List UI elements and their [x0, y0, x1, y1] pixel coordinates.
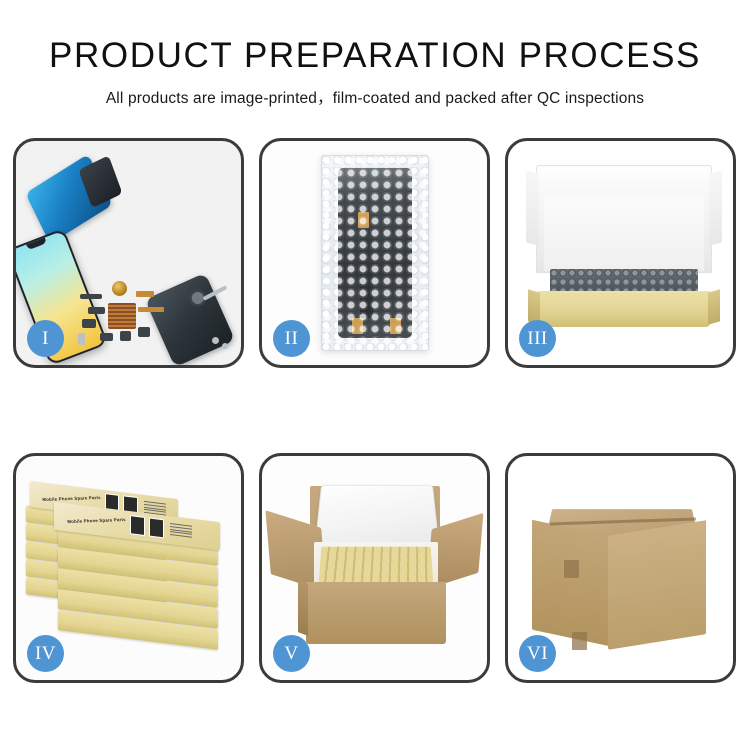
sim-tray-icon — [78, 333, 85, 345]
screw-2-icon — [222, 343, 228, 349]
process-step-grid: I II — [13, 138, 737, 683]
page-subtitle: All products are image-printed，film-coat… — [0, 86, 750, 108]
step-badge-4: IV — [27, 635, 64, 672]
foam-box-lid-icon — [315, 485, 440, 547]
process-step-panel-4: Mobile Phone Spare Parts Mobile Phon — [13, 453, 244, 683]
kraft-box-stack: Mobile Phone Spare Parts Mobile Phon — [24, 474, 236, 664]
header: PRODUCT PREPARATION PROCESS All products… — [0, 0, 750, 108]
speaker-box-icon — [138, 327, 150, 337]
box-label-text: Mobile Phone Spare Parts — [42, 495, 101, 502]
screw-icon — [212, 337, 219, 344]
lcd-screen-icon — [338, 168, 412, 338]
bubble-wrap-package-icon — [321, 155, 429, 351]
box-label-text-2: Mobile Phone Spare Parts — [67, 517, 126, 524]
product-preparation-infographic: PRODUCT PREPARATION PROCESS All products… — [0, 0, 750, 750]
process-step-panel-3: III — [505, 138, 736, 368]
carton-tape-upper-icon — [564, 560, 579, 578]
box-label-spec-lines-2-icon — [170, 523, 192, 538]
page-title: PRODUCT PREPARATION PROCESS — [0, 38, 750, 75]
speaker-coil-icon — [112, 281, 127, 296]
box-label-product-image-3-icon — [130, 515, 145, 536]
small-part-2-icon — [82, 319, 96, 328]
tape-tab-2-icon — [352, 318, 363, 334]
packed-kraft-boxes-icon — [319, 547, 434, 584]
copper-grid-icon — [108, 303, 136, 329]
kraft-box-base-icon — [538, 291, 710, 327]
step-badge-6: VI — [519, 635, 556, 672]
tape-tab-3-icon — [390, 318, 401, 334]
tape-tab-icon — [358, 212, 369, 228]
carton-front-wall-icon — [306, 582, 446, 644]
connector-bar-icon — [80, 294, 102, 299]
small-part-3-icon — [100, 333, 113, 341]
small-part-icon — [88, 307, 105, 314]
step-badge-2: II — [273, 320, 310, 357]
process-step-panel-2: II — [259, 138, 490, 368]
carton-right-face-icon — [608, 520, 706, 650]
carton-left-face-icon — [532, 520, 610, 647]
screen-flex-cable-icon — [360, 226, 373, 318]
camera-module-icon — [120, 331, 131, 341]
process-step-panel-5: V — [259, 453, 490, 683]
process-step-panel-1: I — [13, 138, 244, 368]
foam-sheet-icon — [544, 197, 704, 271]
flex-cable-icon — [136, 291, 154, 297]
step-badge-1: I — [27, 320, 64, 357]
step-badge-5: V — [273, 635, 310, 672]
step-badge-3: III — [519, 320, 556, 357]
tweezer-icon — [203, 285, 228, 301]
box-label-product-image-4-icon — [149, 517, 164, 538]
flex-cable-2-icon — [138, 307, 164, 312]
carton-tape-lower-icon — [572, 632, 587, 650]
process-step-panel-6: VI — [505, 453, 736, 683]
